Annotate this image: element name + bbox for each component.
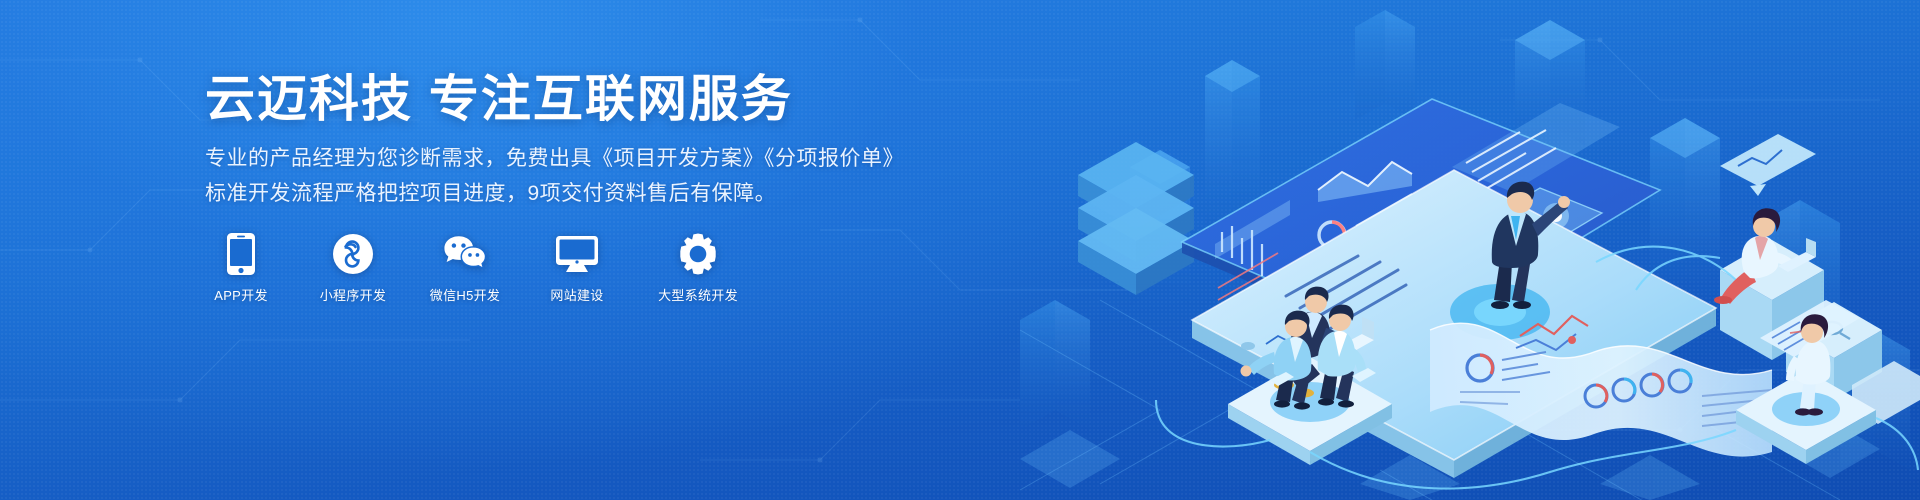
illustration-canvas — [960, 0, 1920, 500]
service-list: APP开发 小程序开发 — [205, 232, 743, 304]
gear-icon — [676, 232, 720, 276]
chat-bubble — [1720, 134, 1816, 196]
service-label: 网站建设 — [550, 285, 603, 304]
wechat-icon — [443, 232, 487, 276]
service-item-miniprogram[interactable]: 小程序开发 — [317, 232, 389, 304]
service-label: APP开发 — [214, 285, 268, 304]
service-label: 微信H5开发 — [430, 285, 500, 304]
service-label: 小程序开发 — [320, 285, 387, 304]
service-item-website[interactable]: 网站建设 — [541, 232, 613, 304]
subtitle-line-1: 专业的产品经理为您诊断需求，免费出具《项目开发方案》《分项报价单》 — [205, 143, 904, 176]
mobile-phone-icon — [219, 232, 263, 276]
subtitle-line-2: 标准开发流程严格把控项目进度，9项交付资料售后有保障。 — [205, 178, 776, 211]
mini-program-icon — [331, 232, 375, 276]
banner-content: 云迈科技 专注互联网服务 专业的产品经理为您诊断需求，免费出具《项目开发方案》《… — [205, 0, 925, 500]
service-label: 大型系统开发 — [658, 285, 738, 304]
service-item-system[interactable]: 大型系统开发 — [653, 232, 743, 304]
page-title: 云迈科技 专注互联网服务 — [205, 72, 793, 127]
desktop-monitor-icon — [555, 232, 599, 276]
isometric-illustration — [960, 0, 1920, 500]
service-item-app[interactable]: APP开发 — [205, 232, 277, 304]
service-item-wechat[interactable]: 微信H5开发 — [429, 232, 501, 304]
hero-banner: 云迈科技 专注互联网服务 专业的产品经理为您诊断需求，免费出具《项目开发方案》《… — [0, 0, 1920, 500]
